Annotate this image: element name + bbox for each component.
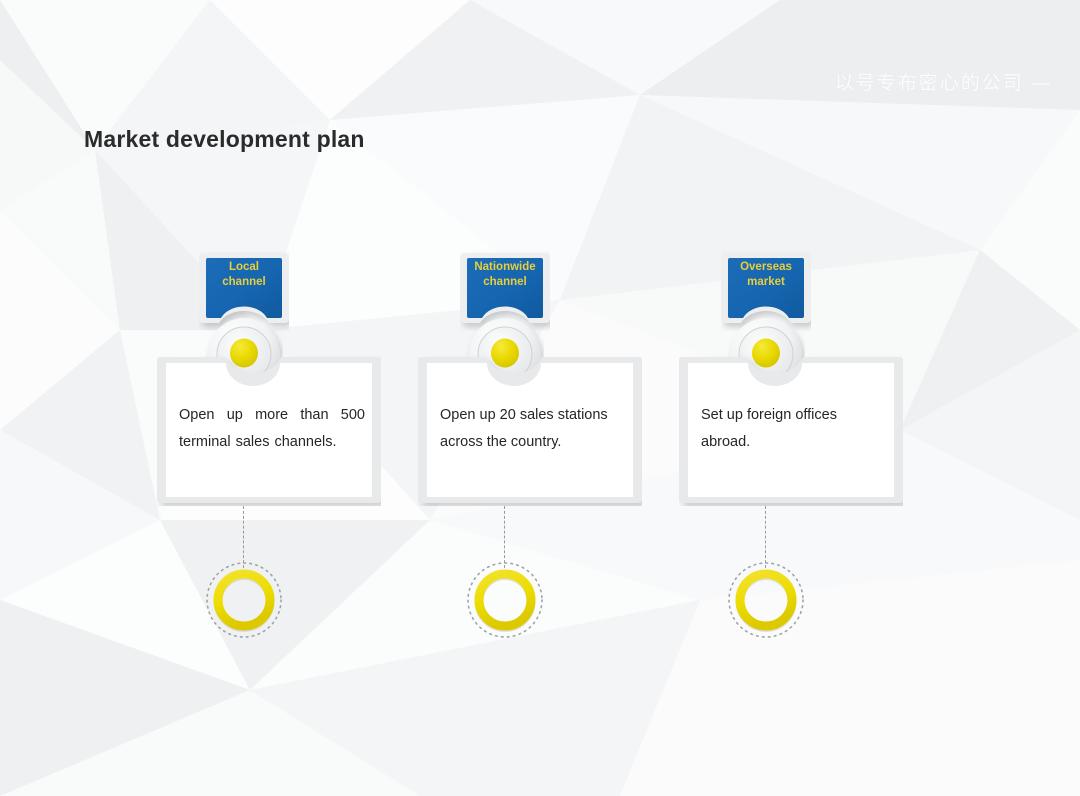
ring-marker-3[interactable] (726, 560, 806, 640)
card-body-text: Set up foreign offices abroad. (701, 402, 887, 456)
ring-shape (204, 560, 284, 640)
info-card-2[interactable]: Open up 20 sales stations across the cou… (418, 354, 642, 506)
connector-line-2 (504, 506, 506, 568)
connector-line-3 (765, 506, 767, 568)
card-body-text: Open up 20 sales stations across the cou… (440, 402, 626, 456)
ring-shape (465, 560, 545, 640)
step-column-3: Overseas market (640, 0, 940, 796)
card-body-text: Open up more than 500 terminal sales cha… (179, 402, 365, 456)
connector-line-1 (243, 506, 245, 568)
step-column-2: Nationwide channel (379, 0, 679, 796)
info-card-1[interactable]: Open up more than 500 terminal sales cha… (157, 354, 381, 506)
ring-marker-2[interactable] (465, 560, 545, 640)
info-card-3[interactable]: Set up foreign offices abroad. (679, 354, 903, 506)
step-column-1: Local channel (118, 0, 418, 796)
ring-marker-1[interactable] (204, 560, 284, 640)
ring-shape (726, 560, 806, 640)
slide-canvas: 以号专布密心的公司 — Market development plan (0, 0, 1080, 796)
